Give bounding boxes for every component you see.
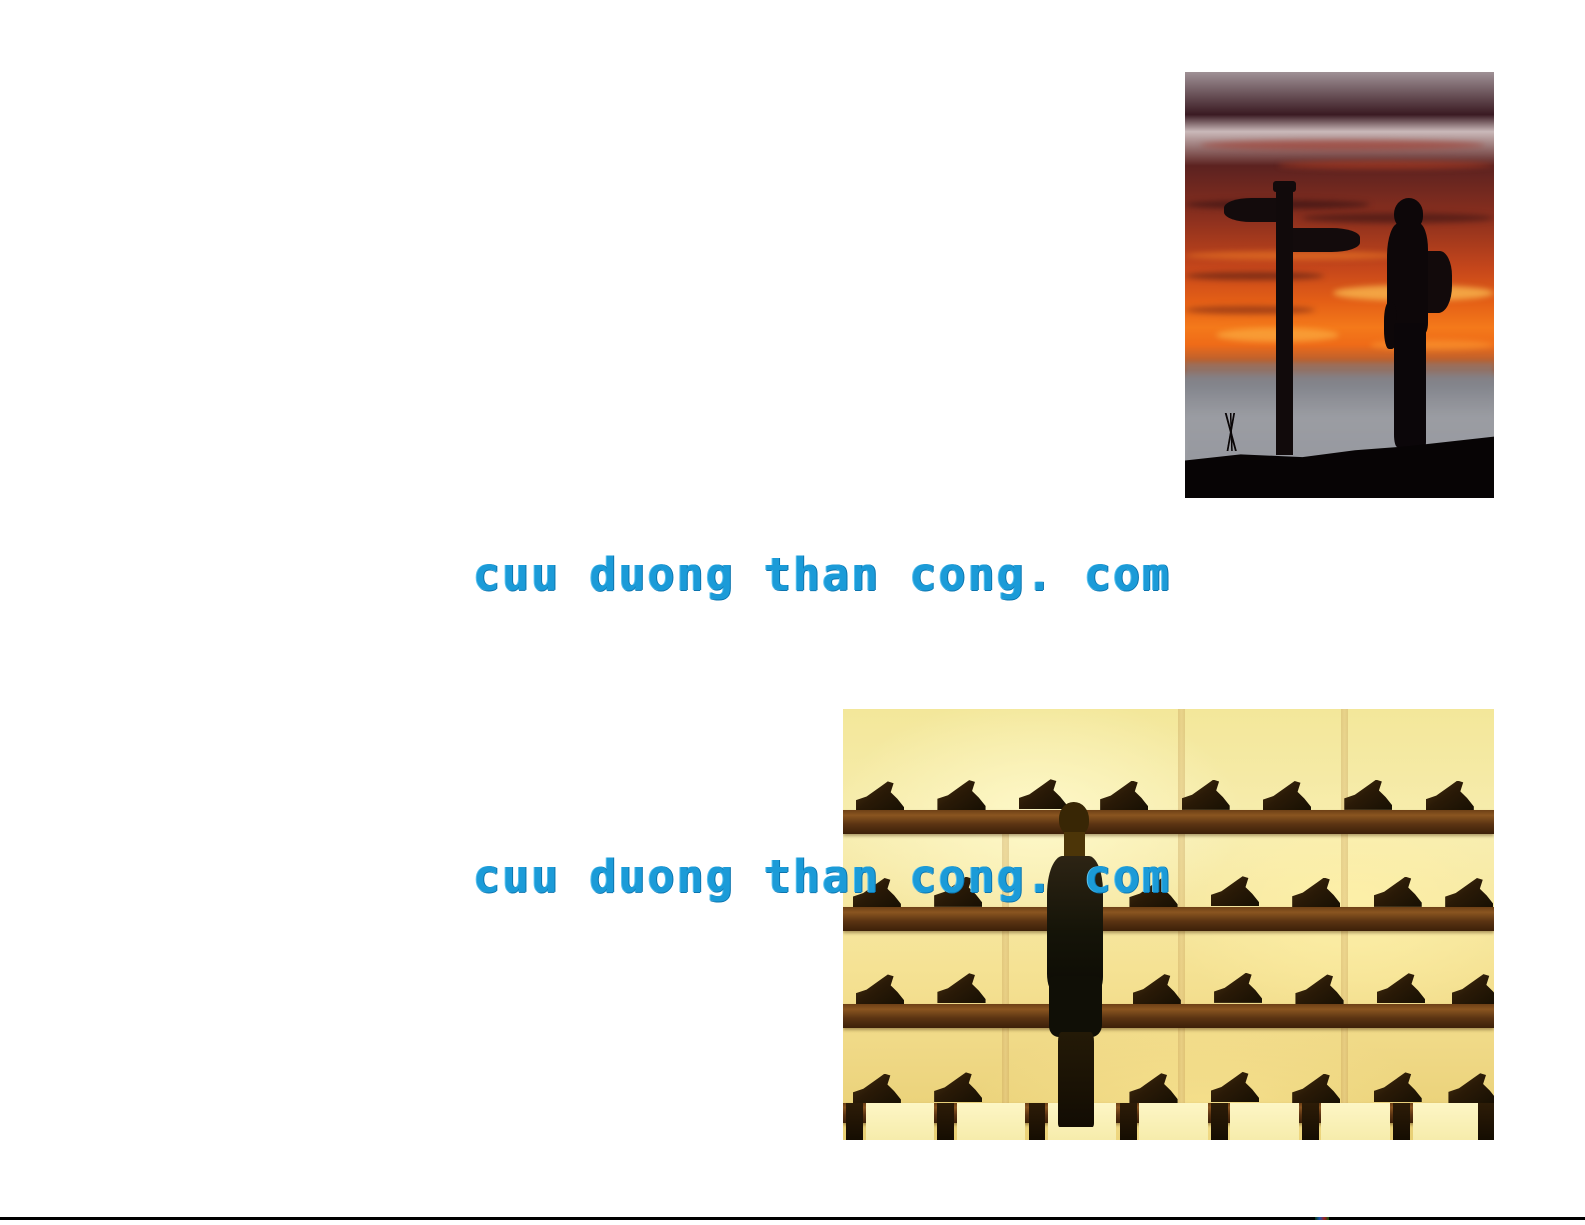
shelf-board: [843, 907, 1494, 930]
lit-panel: [1139, 1103, 1207, 1140]
signpost-pole: [1276, 187, 1293, 455]
lit-panel: [1413, 1103, 1481, 1140]
shelf-board: [843, 810, 1494, 833]
panel-stile: [1211, 1103, 1228, 1140]
shelf-board: [843, 1004, 1494, 1027]
signpost-arm-right: [1289, 228, 1360, 252]
panel-stile: [1120, 1103, 1137, 1140]
panel-stile: [1478, 1103, 1494, 1140]
panel-stile: [937, 1103, 954, 1140]
panel-stile: [1302, 1103, 1319, 1140]
cloud-streak: [1185, 251, 1401, 260]
sunset-signpost-photo: [1185, 72, 1494, 498]
lit-panel: [866, 1103, 934, 1140]
lit-panel: [1321, 1103, 1389, 1140]
person-skirt: [1049, 976, 1102, 1036]
footer-artifact: [1315, 1217, 1329, 1220]
person-legs: [1058, 1032, 1094, 1127]
hiker-legs: [1394, 323, 1426, 447]
shelf-divider: [1178, 709, 1185, 1103]
shoe-store-photo: [843, 709, 1494, 1140]
shelf-divider: [1341, 709, 1348, 1103]
panel-stile: [1029, 1103, 1046, 1140]
lit-panel: [1230, 1103, 1298, 1140]
slide-canvas: cuu duong than cong. com: [0, 0, 1585, 1225]
lit-panel: [957, 1103, 1025, 1140]
grass-tufts: [1213, 413, 1250, 451]
panel-stile: [846, 1103, 863, 1140]
watermark-text-top: cuu duong than cong. com: [473, 548, 1171, 601]
panel-stile: [1393, 1103, 1410, 1140]
watermark-text-bottom: cuu duong than cong. com: [473, 850, 1171, 903]
footer-rule: [0, 1217, 1585, 1220]
